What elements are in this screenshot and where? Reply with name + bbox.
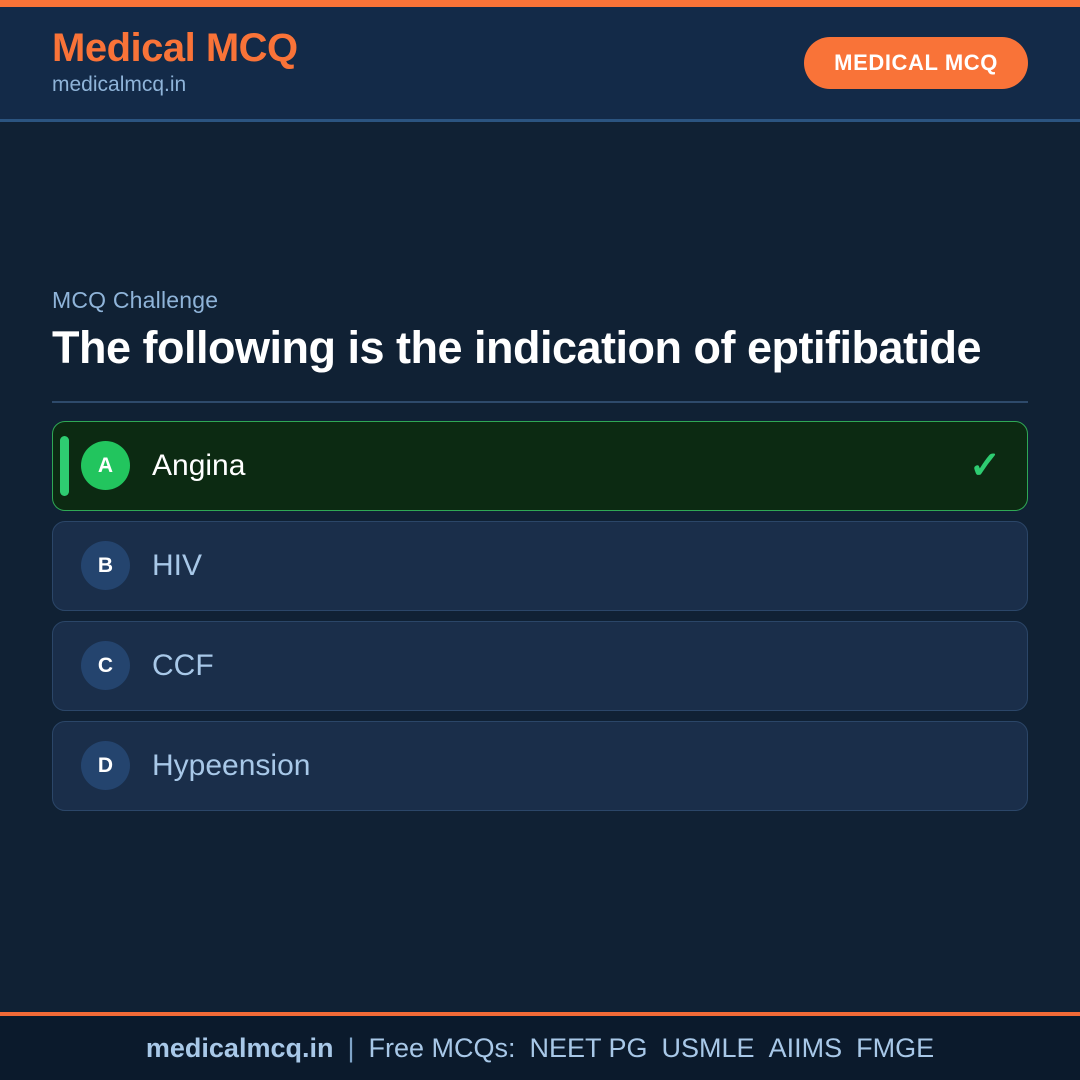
footer-tag-neetpg: NEET PG <box>530 1033 648 1064</box>
option-c-letter: C <box>81 641 130 690</box>
mcq-card: Medical MCQ medicalmcq.in MEDICAL MCQ MC… <box>0 0 1080 1080</box>
check-icon: ✓ <box>969 447 1001 485</box>
option-b[interactable]: B HIV <box>52 521 1028 611</box>
footer-bar: medicalmcq.in | Free MCQs: NEET PG USMLE… <box>0 1012 1080 1080</box>
option-a[interactable]: A Angina ✓ <box>52 421 1028 511</box>
header-badge: MEDICAL MCQ <box>804 37 1028 89</box>
footer-label: Free MCQs: <box>368 1033 515 1064</box>
top-accent-rule <box>0 0 1080 7</box>
option-d[interactable]: D Hypeension <box>52 721 1028 811</box>
brand: Medical MCQ medicalmcq.in <box>52 27 298 99</box>
option-a-letter: A <box>81 441 130 490</box>
footer-tag-usmle: USMLE <box>662 1033 755 1064</box>
option-b-label: HIV <box>152 551 202 581</box>
option-a-label: Angina <box>152 451 245 481</box>
footer-separator: | <box>347 1033 354 1064</box>
option-c-label: CCF <box>152 651 214 681</box>
question-text: The following is the indication of eptif… <box>52 322 1012 375</box>
footer-tags: NEET PG USMLE AIIMS FMGE <box>530 1033 935 1064</box>
option-d-label: Hypeension <box>152 751 310 781</box>
brand-title: Medical MCQ <box>52 27 298 69</box>
footer-site: medicalmcq.in <box>146 1033 334 1064</box>
option-b-letter: B <box>81 541 130 590</box>
option-c[interactable]: C CCF <box>52 621 1028 711</box>
options-list: A Angina ✓ B HIV C CCF D Hypeension <box>52 421 1028 811</box>
question-divider <box>52 401 1028 403</box>
question-eyebrow: MCQ Challenge <box>52 287 1028 314</box>
footer-tag-aiims: AIIMS <box>769 1033 843 1064</box>
header-bar: Medical MCQ medicalmcq.in MEDICAL MCQ <box>0 7 1080 122</box>
brand-site: medicalmcq.in <box>52 71 298 99</box>
question-area: MCQ Challenge The following is the indic… <box>0 122 1080 1012</box>
option-d-letter: D <box>81 741 130 790</box>
footer-tag-fmge: FMGE <box>856 1033 934 1064</box>
